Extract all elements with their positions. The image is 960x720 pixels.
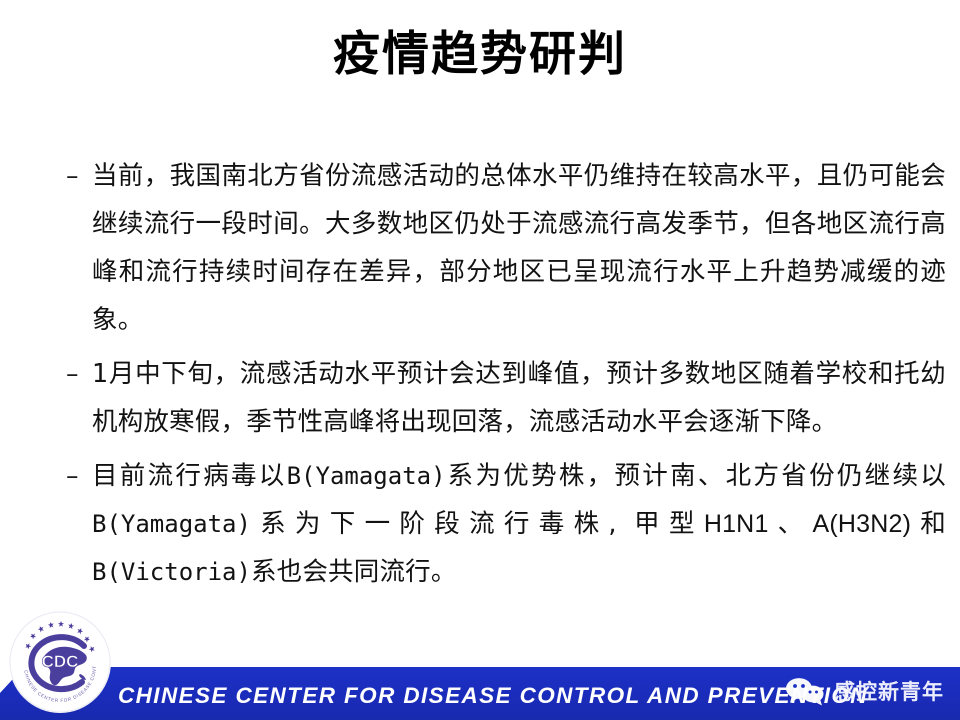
text-run: 当前，我国南北方省份流感活动的总体水平仍维持在较高水平，且仍可能会继续流行一段时… xyxy=(92,161,946,335)
bullet-current-level: – 当前，我国南北方省份流感活动的总体水平仍维持在较高水平，且仍可能会继续流行一… xyxy=(66,152,946,344)
bullet-dominant-strain: – 目前流行病毒以B(Yamagata)系为优势株，预计南、北方省份仍继续以B(… xyxy=(66,452,946,596)
logo-acronym: CDC xyxy=(42,652,79,671)
wechat-icon xyxy=(785,676,825,706)
bullet-text-january-peak: 1月中下旬，流感活动水平预计会达到峰值，预计多数地区随着学校和托幼机构放寒假，季… xyxy=(92,350,946,446)
strain-label-mono: B(Yamagata) xyxy=(92,510,251,538)
bullet-text-dominant-strain: 目前流行病毒以B(Yamagata)系为优势株，预计南、北方省份仍继续以B(Ya… xyxy=(92,452,946,596)
text-run: 、 xyxy=(769,509,813,539)
bullet-dash-icon: – xyxy=(66,350,92,398)
page-title: 疫情趋势研判 xyxy=(0,26,960,85)
bullet-january-peak: – 1月中下旬，流感活动水平预计会达到峰值，预计多数地区随着学校和托幼机构放寒假… xyxy=(66,350,946,446)
wechat-watermark: 感控新青年 xyxy=(785,676,944,706)
text-run: 和 xyxy=(911,509,946,539)
strain-label-mono: B(Yamagata) xyxy=(287,462,446,490)
bullet-text-current-level: 当前，我国南北方省份流感活动的总体水平仍维持在较高水平，且仍可能会继续流行一段时… xyxy=(92,152,946,344)
wechat-account-name: 感控新青年 xyxy=(834,676,944,706)
text-run: 系也会共同流行。 xyxy=(251,557,457,587)
text-run: 系为下一阶段流行毒株, 甲型 xyxy=(251,509,704,539)
text-run: 系为优势株，预计南、北方省份仍继续以 xyxy=(446,461,946,491)
organization-name: CHINESE CENTER FOR DISEASE CONTROL AND P… xyxy=(118,683,868,709)
text-run: 目前流行病毒以 xyxy=(92,461,287,491)
strain-label: A(H3N2) xyxy=(813,510,912,538)
strain-label-mono: B(Victoria) xyxy=(92,558,251,586)
bullet-dash-icon: – xyxy=(66,152,92,200)
slide-body: – 当前，我国南北方省份流感活动的总体水平仍维持在较高水平，且仍可能会继续流行一… xyxy=(66,152,946,602)
cdc-logo: CDC CHINESE CENTER FOR DISEASE CONTROL A… xyxy=(8,610,112,714)
text-run: 1月中下旬，流感活动水平预计会达到峰值，预计多数地区随着学校和托幼机构放寒假，季… xyxy=(92,359,946,437)
bullet-dash-icon: – xyxy=(66,452,92,500)
slide-canvas: 疫情趋势研判 – 当前，我国南北方省份流感活动的总体水平仍维持在较高水平，且仍可… xyxy=(0,0,960,720)
strain-label: H1N1 xyxy=(704,510,769,538)
footer-band: CHINESE CENTER FOR DISEASE CONTROL AND P… xyxy=(0,667,960,720)
